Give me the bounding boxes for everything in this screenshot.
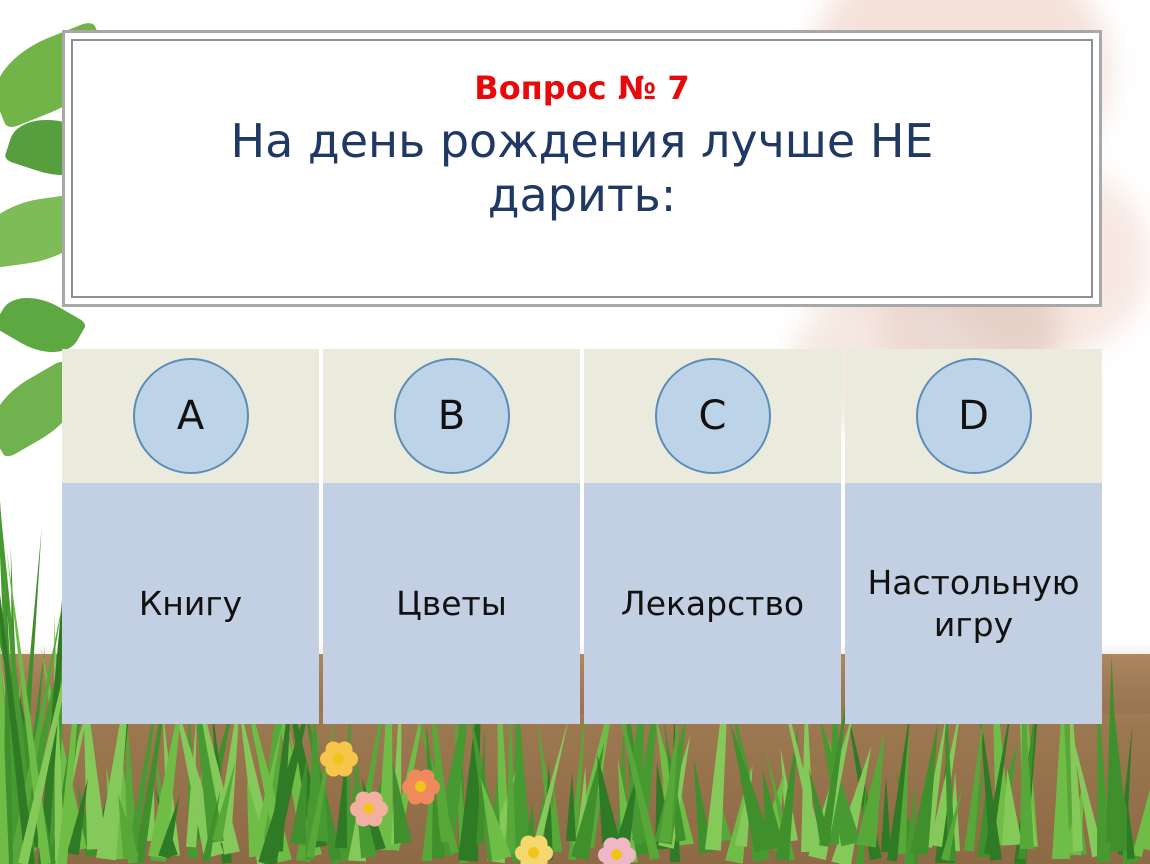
answer-option-cell-a[interactable]: Книгу — [62, 483, 319, 724]
grass-blade-icon — [881, 775, 891, 852]
flower-icon — [352, 792, 386, 826]
flower-icon — [404, 770, 438, 804]
flower-icon — [517, 836, 551, 864]
answer-option-cell-c[interactable]: Лекарство — [584, 483, 841, 724]
letter-circle-b[interactable]: B — [394, 358, 510, 474]
question-frame-inner: Вопрос № 7 На день рождения лучше НЕ дар… — [71, 39, 1093, 298]
answer-option-text-c: Лекарство — [621, 583, 804, 624]
answer-letter-cell-a[interactable]: A — [62, 349, 319, 483]
answer-letter-cell-d[interactable]: D — [845, 349, 1102, 483]
letter-label-d: D — [958, 393, 989, 439]
letter-label-a: A — [177, 393, 204, 439]
letter-circle-d[interactable]: D — [916, 358, 1032, 474]
question-number: Вопрос № 7 — [474, 71, 689, 106]
answer-letter-cell-c[interactable]: C — [584, 349, 841, 483]
answer-option-cell-d[interactable]: Настольную игру — [845, 483, 1102, 724]
flower-icon — [600, 838, 634, 864]
grass-blade-icon — [1105, 653, 1121, 842]
letter-circle-c[interactable]: C — [655, 358, 771, 474]
flower-icon — [322, 742, 356, 776]
flower-center-icon — [363, 803, 374, 814]
answers-table: A B C D Книгу Цветы Лекарство На — [62, 349, 1102, 724]
flower-center-icon — [415, 781, 426, 792]
flower-center-icon — [528, 847, 539, 858]
answer-option-cell-b[interactable]: Цветы — [323, 483, 580, 724]
question-frame: Вопрос № 7 На день рождения лучше НЕ дар… — [62, 30, 1102, 307]
answer-option-text-b: Цветы — [396, 583, 507, 624]
quiz-slide: Вопрос № 7 На день рождения лучше НЕ дар… — [0, 0, 1150, 864]
flower-center-icon — [333, 753, 344, 764]
letter-circle-a[interactable]: A — [133, 358, 249, 474]
flower-center-icon — [611, 849, 622, 860]
answer-letter-cell-b[interactable]: B — [323, 349, 580, 483]
answer-option-text-d: Настольную игру — [859, 562, 1088, 645]
answer-option-text-a: Книгу — [139, 583, 242, 624]
question-text: На день рождения лучше НЕ дарить: — [112, 114, 1052, 223]
letter-label-b: B — [438, 393, 465, 439]
letter-label-c: C — [699, 393, 727, 439]
